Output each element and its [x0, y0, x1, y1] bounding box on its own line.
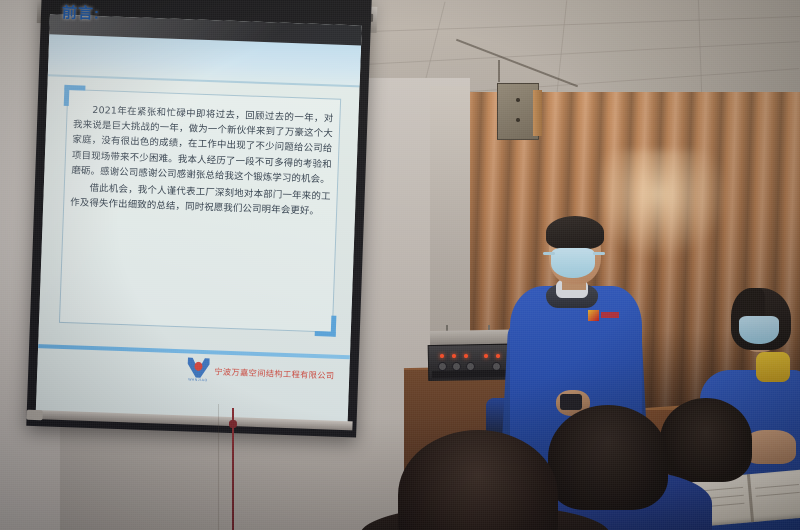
cord-guide-wire — [218, 404, 219, 530]
badge-emblem-icon — [588, 310, 599, 321]
screen-bar-end-cap — [26, 410, 42, 421]
mask-ear-strap — [543, 252, 555, 255]
ceiling-cable-drop — [498, 60, 500, 82]
audience-head-center — [548, 405, 668, 510]
screw-icon — [516, 98, 520, 102]
amp-knob[interactable] — [438, 362, 447, 371]
screw-icon — [516, 118, 520, 122]
amp-led-indicator — [452, 354, 456, 358]
presentation-remote[interactable] — [560, 394, 582, 410]
pull-cord-knob[interactable] — [229, 420, 237, 428]
audience-head-right — [660, 398, 752, 482]
amp-led-indicator — [484, 354, 488, 358]
curtain-sunlight-patch — [600, 150, 730, 260]
notebook-spine — [747, 474, 754, 522]
notebook-rule-line — [756, 492, 800, 497]
projection-screen[interactable]: 2021年在紧张和忙碌中即将过去，回顾过去的一年，对我来说是巨大挑战的一年，做为… — [26, 0, 372, 438]
amp-led-indicator — [464, 354, 468, 358]
notebook-rule-line — [755, 484, 799, 489]
logo-mark-icon: WANJIAO — [187, 357, 210, 384]
mask-ear-strap — [593, 252, 605, 255]
company-name-text: 宁波万嘉空间结构工程有限公司 — [214, 365, 335, 381]
slide-paragraph-1: 2021年在紧张和忙碌中即将过去，回顾过去的一年，对我来说是巨大挑战的一年，做为… — [71, 102, 334, 187]
slide-title: 前言: — [62, 1, 101, 23]
amp-led-indicator — [440, 354, 444, 358]
slide-paragraph-2: 借此机会，我个人谨代表工厂深刻地对本部门一年来的工作及得失作出细致的总结，同时祝… — [70, 180, 331, 220]
badge-text-block — [601, 312, 619, 318]
wood-bracket — [533, 90, 542, 136]
company-logo: WANJIAO 宁波万嘉空间结构工程有限公司 — [187, 357, 335, 388]
amp-led-indicator — [496, 354, 500, 358]
logo-mark-text: WANJIAO — [187, 377, 209, 382]
presentation-slide: 2021年在紧张和忙碌中即将过去，回顾过去的一年，对我来说是巨大挑战的一年，做为… — [36, 14, 362, 423]
corner-bracket-bottom-right-icon — [315, 315, 337, 337]
screen-surface: 2021年在紧张和忙碌中即将过去，回顾过去的一年，对我来说是巨大挑战的一年，做为… — [36, 14, 362, 423]
presenter-face-mask — [551, 248, 595, 278]
slide-body-text: 2021年在紧张和忙碌中即将过去，回顾过去的一年，对我来说是巨大挑战的一年，做为… — [70, 102, 334, 222]
presenter-chest-badge — [588, 310, 618, 321]
presenter-hair — [546, 216, 604, 249]
conference-room-photo: 2021年在紧张和忙碌中即将过去，回顾过去的一年，对我来说是巨大挑战的一年，做为… — [0, 0, 800, 530]
slide-content-box: 2021年在紧张和忙碌中即将过去，回顾过去的一年，对我来说是巨大挑战的一年，做为… — [59, 89, 341, 333]
wall-electrical-box — [497, 83, 539, 140]
attendee-face-mask — [739, 316, 779, 344]
attendee-yellow-collar — [756, 352, 790, 382]
